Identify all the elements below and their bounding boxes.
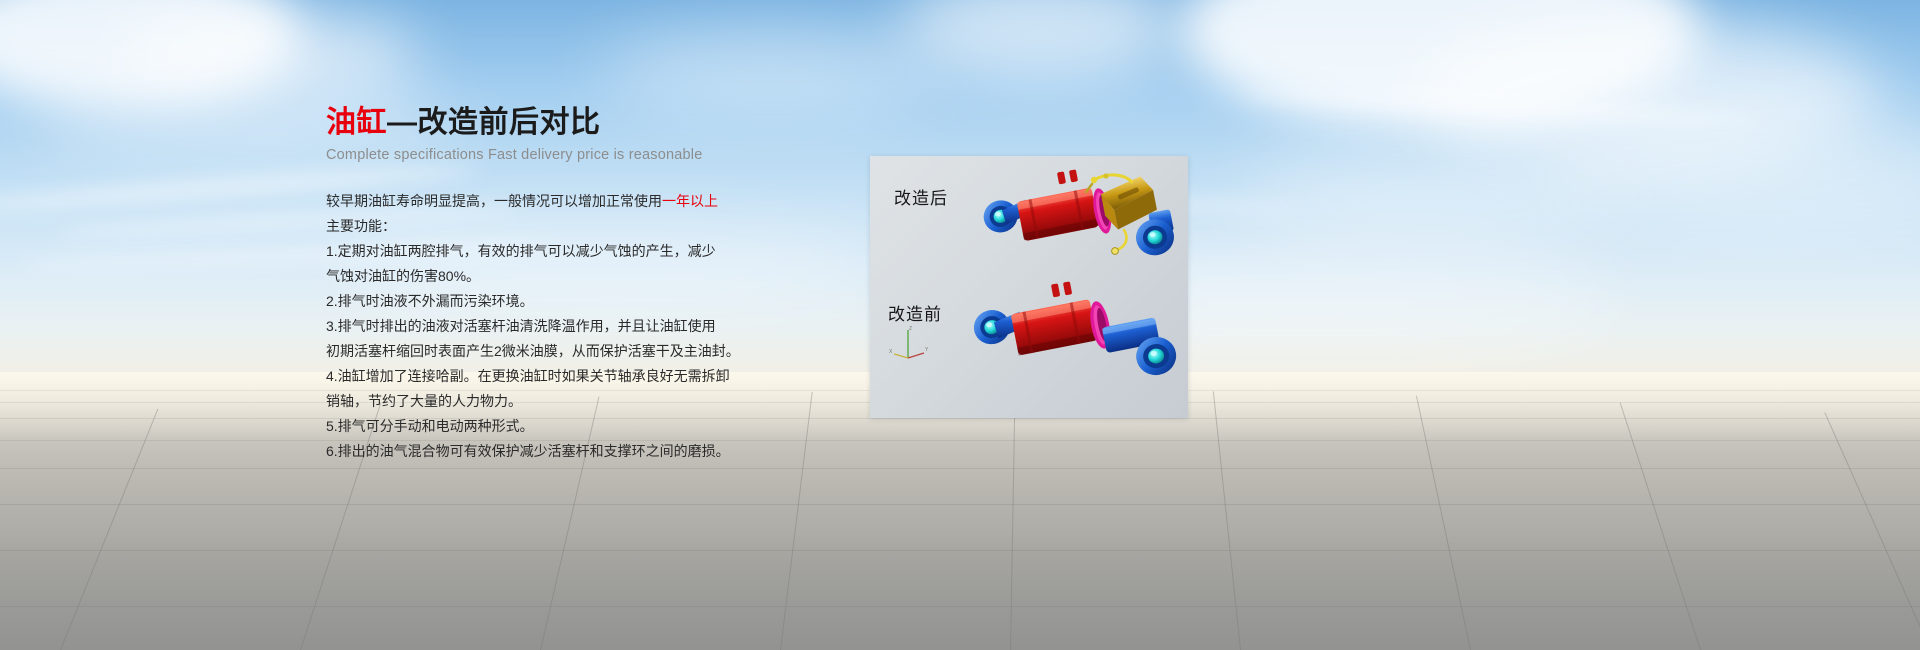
cylinder-assembly-after [974, 166, 1184, 286]
cloud-shape [120, 10, 420, 100]
hero-banner: 油缸—改造前后对比 Complete specifications Fast d… [0, 0, 1920, 650]
svg-text:Y: Y [925, 347, 929, 353]
cloud-shape [900, 0, 1180, 80]
title-accent: 油缸 [326, 106, 387, 139]
cloud-shape [1560, 120, 1920, 230]
cloud-streak [1240, 86, 1760, 127]
body-line: 2.排气时油液不外漏而污染环境。 [326, 289, 866, 314]
body-line: 较早期油缸寿命明显提高，一般情况可以增加正常使用一年以上 [326, 189, 866, 214]
body-line: 6.排出的油气混合物可有效保护减少活塞杆和支撑环之间的磨损。 [326, 439, 866, 464]
svg-text:Z: Z [909, 326, 912, 332]
tile-seam-horizontal [0, 468, 1920, 469]
title-rest: —改造前后对比 [387, 106, 601, 139]
cloud-shape [0, 0, 300, 110]
label-after-modification: 改造后 [894, 184, 948, 209]
banner-copy: 油缸—改造前后对比 Complete specifications Fast d… [326, 104, 866, 464]
body-line: 销轴，节约了大量的人力物力。 [326, 389, 866, 414]
tile-seam-horizontal [0, 418, 1920, 419]
cloud-shape [1180, 0, 1700, 130]
body-line: 4.油缸增加了连接哈副。在更换油缸时如果关节轴承良好无需拆卸 [326, 364, 866, 389]
body-line: 初期活塞杆缩回时表面产生2微米油膜，从而保护活塞干及主油封。 [326, 339, 866, 364]
body-line-highlight: 一年以上 [662, 193, 718, 209]
tile-seam-horizontal [0, 504, 1920, 505]
page-title: 油缸—改造前后对比 [326, 104, 866, 142]
product-comparison-panel: 改造后 改造前 Z X Y [870, 156, 1188, 418]
label-before-modification: 改造前 [888, 300, 942, 325]
body-line: 5.排气可分手动和电动两种形式。 [326, 414, 866, 439]
cylinder-assembly-before [966, 278, 1181, 403]
body-line: 主要功能： [326, 214, 866, 239]
cloud-shape [600, 30, 940, 110]
body-line-text: 较早期油缸寿命明显提高，一般情况可以增加正常使用 [326, 193, 662, 209]
svg-text:X: X [889, 349, 893, 355]
cloud-shape [1420, 20, 1880, 170]
body-line: 气蚀对油缸的伤害80%。 [326, 264, 866, 289]
body-line: 1.定期对油缸两腔排气，有效的排气可以减少气蚀的产生，减少 [326, 239, 866, 264]
page-subtitle: Complete specifications Fast delivery pr… [326, 147, 866, 163]
cloud-shape [1240, 150, 1620, 240]
ground-vignette [0, 530, 1920, 650]
feature-text-block: 较早期油缸寿命明显提高，一般情况可以增加正常使用一年以上 主要功能： 1.定期对… [326, 189, 866, 464]
body-line: 3.排气时排出的油液对活塞杆油清洗降温作用，并且让油缸使用 [326, 314, 866, 339]
axis-gizmo-icon: Z X Y [888, 324, 932, 364]
